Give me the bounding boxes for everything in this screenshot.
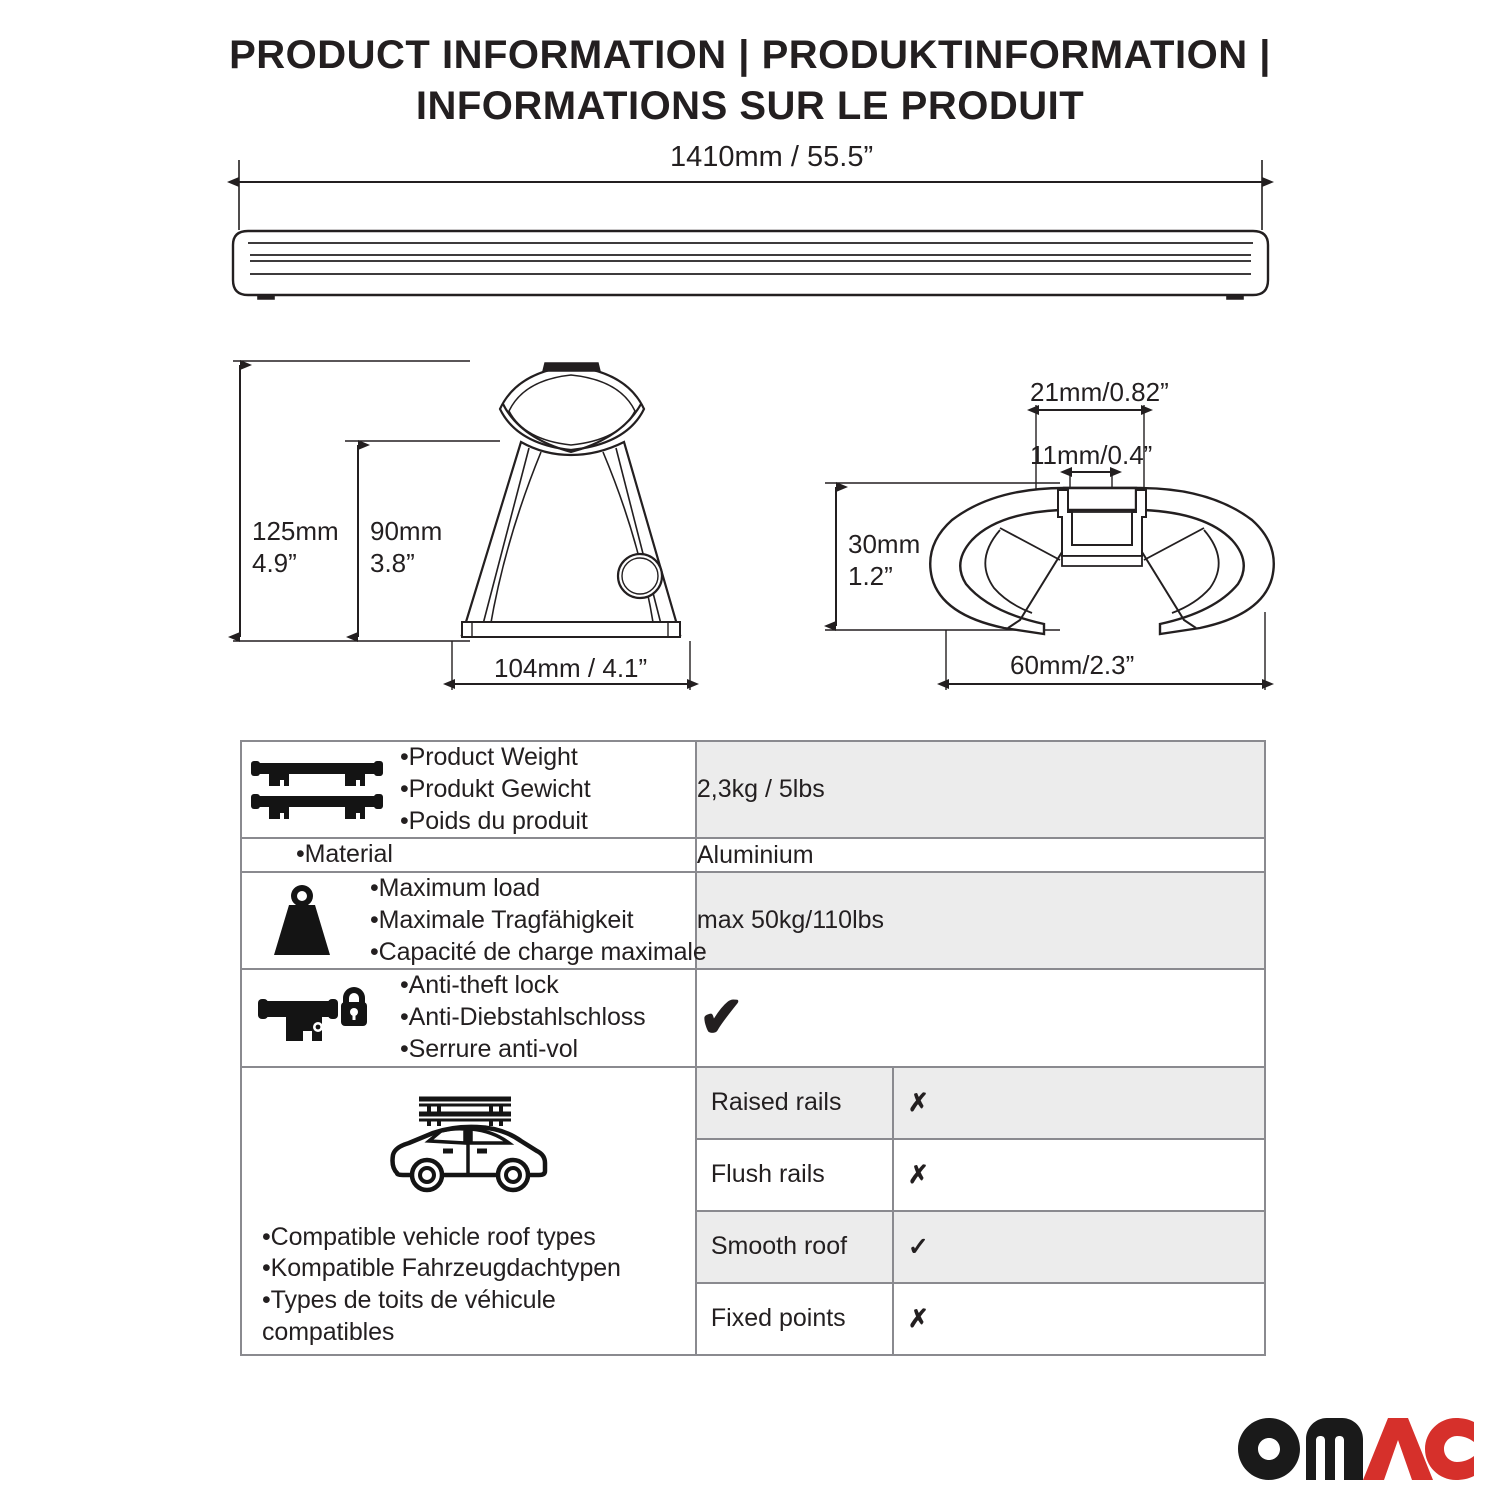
material-label-cell: •Material (241, 838, 696, 872)
foot-inner-height-mm: 90mm (370, 515, 442, 547)
product-information-sheet: PRODUCT INFORMATION | PRODUKTINFORMATION… (0, 0, 1500, 1500)
lock-bullet-en: •Anti-theft lock (400, 970, 695, 1002)
roof-bar-top-view (233, 231, 1268, 299)
page-title: PRODUCT INFORMATION | PRODUKTINFORMATION… (0, 30, 1500, 132)
table-row-maximum-load: •Maximum load •Maximale Tragfähigkeit •C… (241, 872, 1265, 969)
foot-total-height-mm: 125mm (252, 515, 339, 547)
roof-type-row-fixed-points: Fixed points ✗ (697, 1283, 1264, 1354)
omac-logo (1238, 1418, 1474, 1480)
logo-letter-o (1238, 1418, 1300, 1480)
foot-total-height-in: 4.9” (252, 547, 339, 579)
weight-bullet-de: •Produkt Gewicht (400, 774, 695, 806)
lock-value-cell: ✔ (696, 969, 1265, 1066)
table-row-product-weight: •Product Weight •Produkt Gewicht •Poids … (241, 741, 1265, 838)
specification-table: •Product Weight •Produkt Gewicht •Poids … (240, 740, 1266, 1356)
table-row-material: •Material Aluminium (241, 838, 1265, 872)
roof-type-row-flush-rails: Flush rails ✗ (697, 1139, 1264, 1211)
lock-bullets: •Anti-theft lock •Anti-Diebstahlschloss … (400, 970, 695, 1065)
roof-type-row-smooth-roof: Smooth roof ✓ (697, 1211, 1264, 1283)
material-bullet-en: •Material (296, 839, 695, 871)
profile-height-mm: 30mm (848, 528, 920, 560)
logo-letter-c (1425, 1418, 1474, 1480)
roof-type-mark-smooth-roof: ✓ (893, 1211, 1264, 1283)
max-load-value-cell: max 50kg/110lbs (696, 872, 1265, 969)
weight-value-cell: 2,3kg / 5lbs (696, 741, 1265, 838)
max-load-label-cell: •Maximum load •Maximale Tragfähigkeit •C… (241, 872, 696, 969)
max-load-bullet-de: •Maximale Tragfähigkeit (370, 905, 707, 937)
compat-bullet-de: •Kompatible Fahrzeugdachtypen (262, 1253, 687, 1285)
foot-total-height-label: 125mm 4.9” (252, 515, 339, 579)
omac-logo-mark (1238, 1418, 1474, 1480)
roof-type-label-fixed-points: Fixed points (697, 1283, 893, 1354)
foot-inner-height-label: 90mm 3.8” (370, 515, 442, 579)
profile-width-label: 60mm/2.3” (1010, 650, 1134, 682)
roof-type-table: Raised rails ✗ Flush rails ✗ Smooth roof… (697, 1068, 1264, 1354)
lock-bullet-fr: •Serrure anti-vol (400, 1034, 695, 1066)
foot-inner-height-in: 3.8” (370, 547, 442, 579)
roof-rack-foot-front-view (462, 363, 680, 637)
compat-bullet-en: •Compatible vehicle roof types (262, 1222, 687, 1254)
compatibility-value-cell: Raised rails ✗ Flush rails ✗ Smooth roof… (696, 1067, 1265, 1355)
logo-letter-m (1306, 1418, 1363, 1480)
max-load-bullet-en: •Maximum load (370, 873, 707, 905)
weight-bullet-en: •Product Weight (400, 742, 695, 774)
material-value-cell: Aluminium (696, 838, 1265, 872)
title-line-1: PRODUCT INFORMATION | PRODUKTINFORMATION… (0, 30, 1500, 81)
car-with-roof-rack-icon (385, 1089, 551, 1200)
lock-label-cell: •Anti-theft lock •Anti-Diebstahlschloss … (241, 969, 696, 1066)
profile-slot-outer-label: 21mm/0.82” (1030, 377, 1169, 409)
profile-height-in: 1.2” (848, 560, 920, 592)
table-row-compatibility: •Compatible vehicle roof types •Kompatib… (241, 1067, 1265, 1355)
roof-type-label-flush-rails: Flush rails (697, 1139, 893, 1211)
foot-width-label: 104mm / 4.1” (494, 653, 647, 685)
lock-bullet-de: •Anti-Diebstahlschloss (400, 1002, 695, 1034)
bar-cross-section (930, 488, 1274, 634)
weight-bullets: •Product Weight •Produkt Gewicht •Poids … (400, 742, 695, 837)
roof-type-label-smooth-roof: Smooth roof (697, 1211, 893, 1283)
weight-bullet-fr: •Poids du produit (400, 806, 695, 838)
roof-type-mark-flush-rails: ✗ (893, 1139, 1264, 1211)
weight-label-cell: •Product Weight •Produkt Gewicht •Poids … (241, 741, 696, 838)
material-bullets: •Material (242, 839, 695, 871)
bar-length-label: 1410mm / 55.5” (670, 140, 873, 175)
compatibility-bullets: •Compatible vehicle roof types •Kompatib… (242, 1200, 695, 1349)
weight-scale-icon (242, 883, 362, 959)
lock-check-icon: ✔ (699, 989, 744, 1047)
max-load-bullets: •Maximum load •Maximale Tragfähigkeit •C… (370, 873, 707, 968)
two-crossbars-icon (242, 759, 392, 821)
profile-slot-inner-label: 11mm/0.4” (1030, 440, 1152, 472)
compatibility-label-cell: •Compatible vehicle roof types •Kompatib… (241, 1067, 696, 1355)
roof-type-mark-raised-rails: ✗ (893, 1068, 1264, 1139)
roof-type-mark-fixed-points: ✗ (893, 1283, 1264, 1354)
roof-type-label-raised-rails: Raised rails (697, 1068, 893, 1139)
compat-bullet-fr: •Types de toits de véhicule compatibles (262, 1285, 687, 1349)
roof-type-row-raised-rails: Raised rails ✗ (697, 1068, 1264, 1139)
table-row-anti-theft-lock: •Anti-theft lock •Anti-Diebstahlschloss … (241, 969, 1265, 1066)
logo-letter-a (1363, 1418, 1433, 1480)
max-load-bullet-fr: •Capacité de charge maximale (370, 937, 707, 969)
profile-height-label: 30mm 1.2” (848, 528, 920, 592)
bar-padlock-icon (242, 987, 392, 1049)
title-line-2: INFORMATIONS SUR LE PRODUIT (0, 81, 1500, 132)
